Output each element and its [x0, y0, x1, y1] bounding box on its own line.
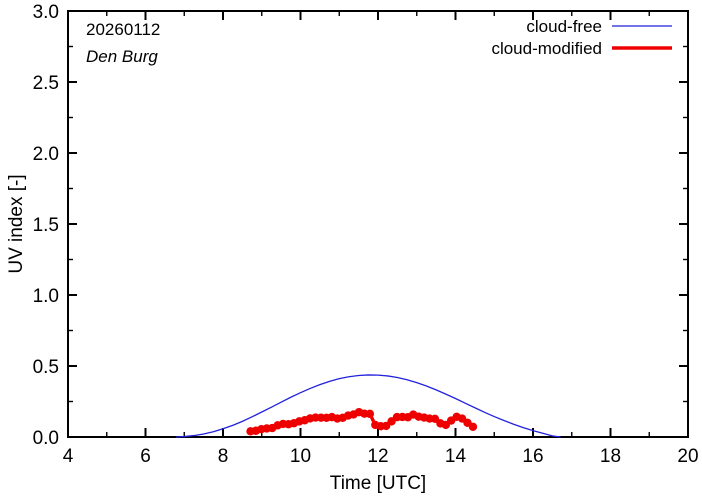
x-axis-tick-labels: 468101214161820	[63, 446, 699, 467]
x-tick-label: 6	[140, 446, 151, 467]
x-tick-label: 8	[218, 446, 229, 467]
legend-label-cloud-modified: cloud-modified	[491, 39, 602, 58]
x-axis-title: Time [UTC]	[330, 473, 426, 494]
x-tick-label: 16	[522, 446, 543, 467]
x-tick-label: 20	[677, 446, 698, 467]
x-axis-major-ticks	[68, 11, 688, 437]
series-markers-cloud-modified	[246, 408, 477, 436]
x-tick-label: 4	[63, 446, 74, 467]
y-axis-tick-labels: 0.00.51.01.52.02.53.0	[33, 2, 59, 449]
y-tick-label: 0.5	[33, 357, 59, 378]
series-line-cloud-free	[177, 375, 561, 437]
y-tick-label: 1.5	[33, 215, 59, 236]
y-tick-label: 2.5	[33, 73, 59, 94]
y-tick-label: 3.0	[33, 2, 59, 23]
y-axis-major-ticks	[68, 11, 688, 437]
x-tick-label: 14	[445, 446, 467, 467]
data-point	[469, 423, 477, 431]
plot-frame	[68, 11, 688, 437]
station-annotation: Den Burg	[86, 47, 158, 66]
y-tick-label: 2.0	[33, 144, 59, 165]
data-point	[366, 410, 374, 418]
chart-canvas: 0.00.51.01.52.02.53.0 468101214161820 UV…	[0, 0, 702, 497]
x-tick-label: 18	[600, 446, 621, 467]
x-tick-label: 10	[290, 446, 311, 467]
y-tick-label: 1.0	[33, 286, 59, 307]
chart-legend: cloud-freecloud-modified	[491, 17, 672, 58]
y-axis-minor-ticks	[68, 47, 688, 402]
y-axis-title: UV index [-]	[6, 174, 27, 273]
data-series-layer	[177, 375, 561, 437]
x-tick-label: 12	[367, 446, 388, 467]
x-axis-minor-ticks	[107, 11, 650, 437]
date-annotation: 20260112	[86, 20, 160, 39]
y-tick-label: 0.0	[33, 428, 59, 449]
legend-label-cloud-free: cloud-free	[526, 17, 602, 36]
uv-index-chart: 0.00.51.01.52.02.53.0 468101214161820 UV…	[0, 0, 702, 497]
